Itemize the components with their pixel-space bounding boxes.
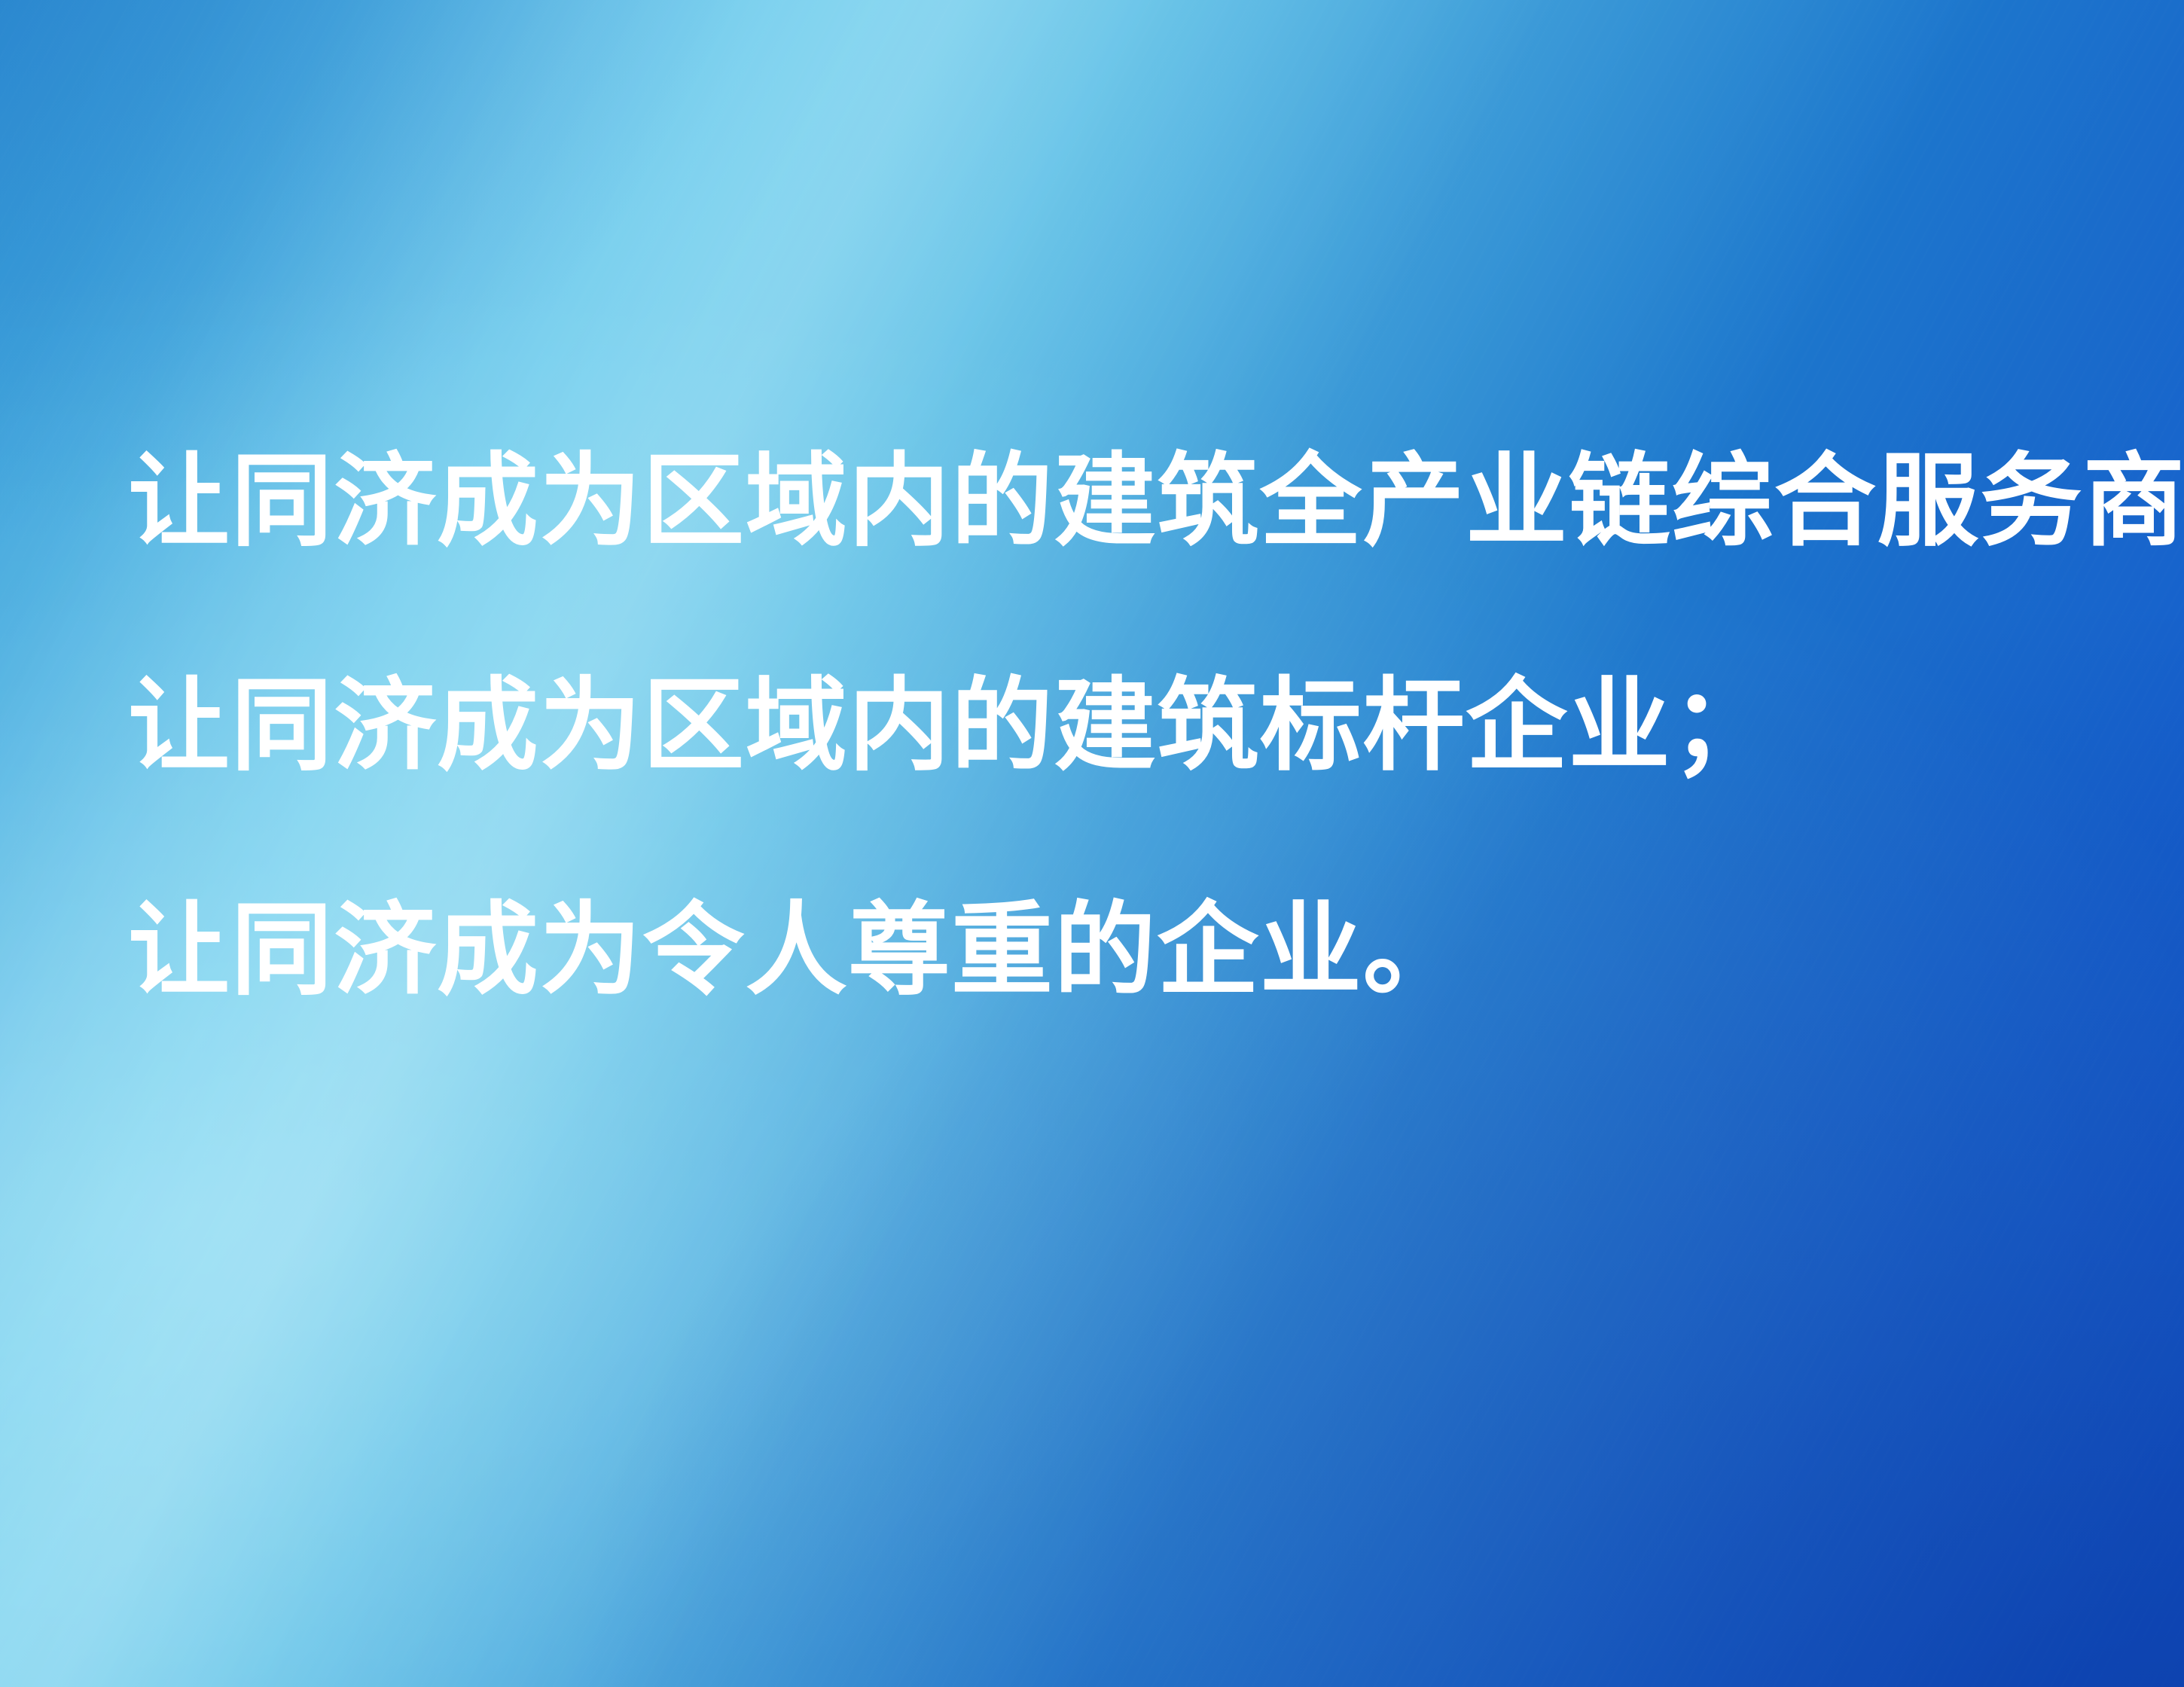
slide-line-2: 让同济成为区域内的建筑标杆企业；	[128, 676, 2131, 778]
presentation-slide: 让同济成为区域内的建筑全产业链综合服务商； 让同济成为区域内的建筑标杆企业； 让…	[0, 0, 2184, 1687]
slide-line-3: 让同济成为令人尊重的企业。	[128, 901, 2131, 1002]
slide-text-block: 让同济成为区域内的建筑全产业链综合服务商； 让同济成为区域内的建筑标杆企业； 让…	[128, 452, 2131, 1002]
slide-line-1: 让同济成为区域内的建筑全产业链综合服务商；	[128, 452, 2131, 554]
